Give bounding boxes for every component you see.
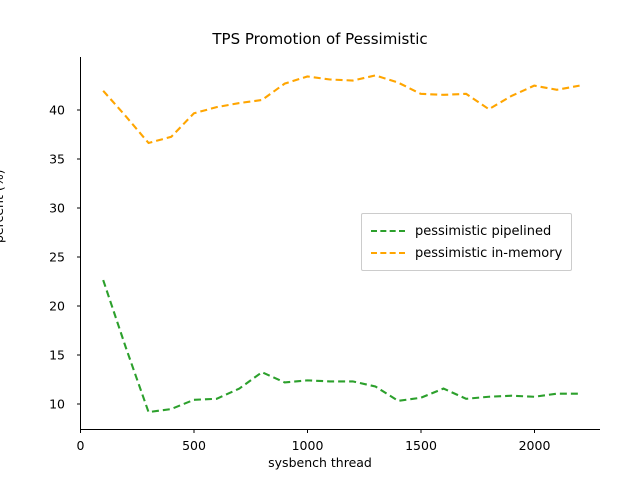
ytick-35: 35 bbox=[40, 152, 65, 167]
xtick-1000: 1000 bbox=[292, 438, 324, 453]
series-line-1 bbox=[103, 75, 579, 143]
legend-item-in-memory: pessimistic in-memory bbox=[371, 242, 562, 264]
ytick-40: 40 bbox=[40, 103, 65, 118]
legend-label-pipelined: pessimistic pipelined bbox=[415, 224, 551, 239]
xtick-1500: 1500 bbox=[405, 438, 437, 453]
ytick-30: 30 bbox=[40, 201, 65, 216]
xtick-2000: 2000 bbox=[519, 438, 551, 453]
legend-swatch-pipelined bbox=[371, 230, 405, 232]
legend-label-in-memory: pessimistic in-memory bbox=[415, 246, 562, 261]
series-line-0 bbox=[103, 280, 579, 412]
xtick-500: 500 bbox=[182, 438, 206, 453]
x-axis-label: sysbench thread bbox=[0, 455, 640, 470]
ytick-20: 20 bbox=[40, 299, 65, 314]
axis-tick-marks bbox=[77, 110, 535, 433]
xtick-0: 0 bbox=[77, 438, 85, 453]
ytick-25: 25 bbox=[40, 250, 65, 265]
ytick-15: 15 bbox=[40, 348, 65, 363]
chart-figure: TPS Promotion of Pessimistic 10 15 20 25… bbox=[0, 0, 640, 480]
legend-swatch-in-memory bbox=[371, 252, 405, 254]
ytick-10: 10 bbox=[40, 397, 65, 412]
legend-item-pipelined: pessimistic pipelined bbox=[371, 220, 562, 242]
y-axis-label: percent (%) bbox=[0, 170, 6, 243]
chart-legend: pessimistic pipelined pessimistic in-mem… bbox=[361, 213, 572, 271]
